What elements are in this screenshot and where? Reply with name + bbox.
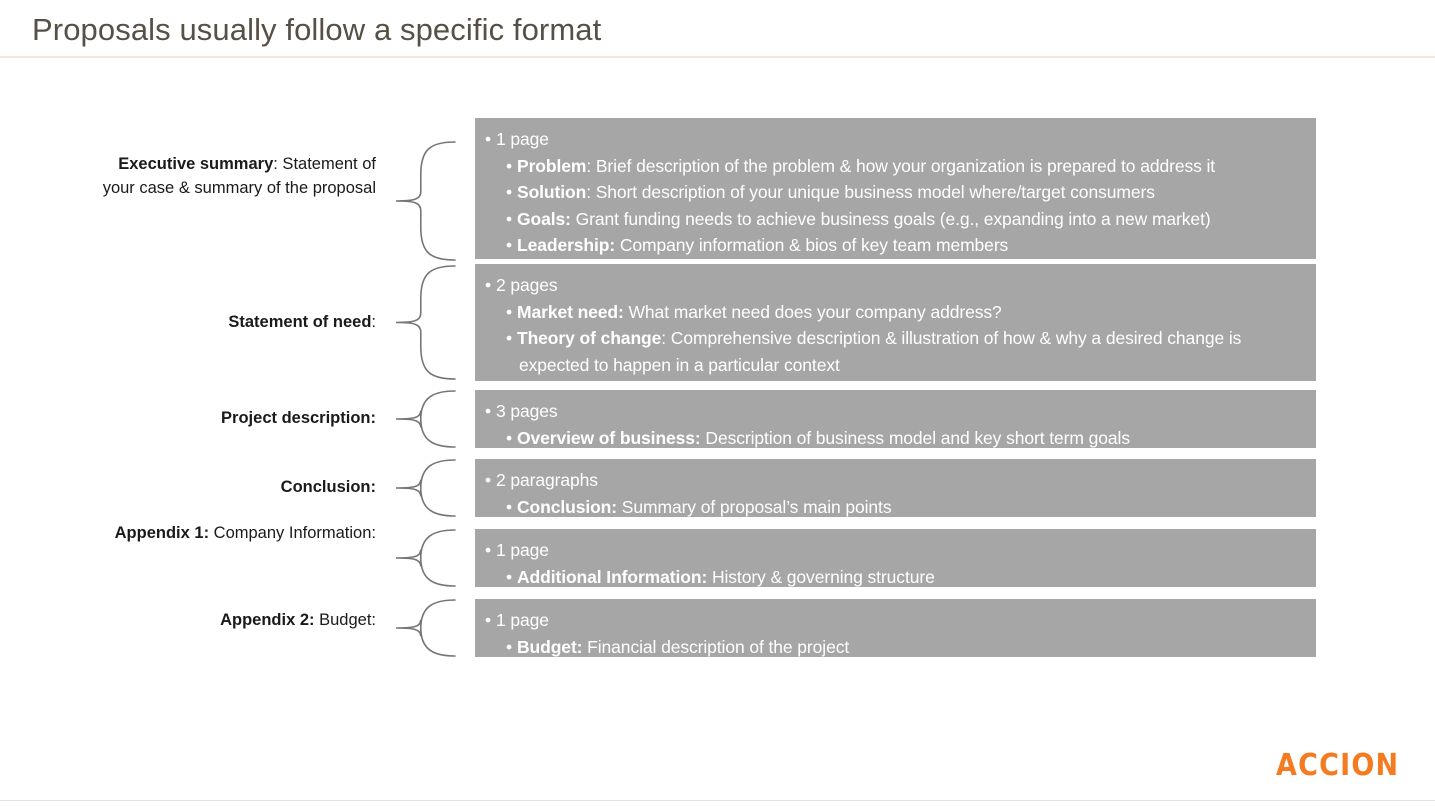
box-line-text: Description of business model and key sh… — [701, 428, 1130, 448]
section-label-detail: : — [371, 313, 376, 331]
curly-brace-icon — [396, 460, 455, 516]
section-label-name: Appendix 1: — [115, 524, 209, 542]
box-line-emphasis: Overview of business: — [517, 428, 701, 448]
box-line-primary: • 2 paragraphs — [485, 467, 1304, 494]
box-line-text: 1 page — [496, 610, 549, 630]
box-line-secondary: • Market need: What market need does you… — [485, 299, 1304, 326]
box-line-secondary: • Theory of change: Comprehensive descri… — [485, 325, 1304, 378]
section-label: Appendix 2: Budget: — [86, 609, 376, 633]
box-line-secondary: • Leadership: Company information & bios… — [485, 232, 1304, 259]
bullet-icon: • — [506, 235, 517, 255]
box-line-emphasis: Theory of change — [517, 328, 661, 348]
box-line-emphasis: Leadership: — [517, 235, 615, 255]
bullet-icon: • — [485, 540, 496, 560]
box-line-emphasis: Market need: — [517, 302, 624, 322]
page-title: Proposals usually follow a specific form… — [32, 11, 601, 49]
content-box: • 1 page• Budget: Financial description … — [475, 599, 1316, 657]
accion-logo: ACCION — [1276, 749, 1399, 783]
box-line-text: 2 paragraphs — [496, 470, 598, 490]
bullet-icon: • — [506, 328, 517, 348]
box-line-text: : Brief description of the problem & how… — [586, 156, 1215, 176]
bullet-icon: • — [485, 470, 496, 490]
box-line-text: History & governing structure — [707, 567, 935, 587]
box-line-secondary: • Additional Information: History & gove… — [485, 564, 1304, 591]
box-line-text: What market need does your company addre… — [624, 302, 1002, 322]
bullet-icon: • — [485, 610, 496, 630]
box-line-primary: • 3 pages — [485, 398, 1304, 425]
section-label: Statement of need: — [86, 311, 376, 335]
box-line-text: 3 pages — [496, 401, 558, 421]
section-label-detail: Company Information: — [209, 524, 376, 542]
box-line-text: 1 page — [496, 540, 549, 560]
box-line-text: 1 page — [496, 129, 549, 149]
content-box: • 1 page• Problem: Brief description of … — [475, 118, 1316, 259]
box-line-primary: • 1 page — [485, 607, 1304, 634]
section-label-name: Executive summary — [118, 155, 273, 173]
bullet-icon: • — [506, 156, 517, 176]
curly-brace-icon — [396, 530, 455, 586]
box-line-secondary: • Goals: Grant funding needs to achieve … — [485, 206, 1304, 233]
curly-brace-icon — [396, 142, 455, 260]
box-line-emphasis: Goals: — [517, 209, 571, 229]
box-line-text: 2 pages — [496, 275, 558, 295]
bullet-icon: • — [506, 302, 517, 322]
box-line-emphasis: Budget: — [517, 637, 582, 657]
box-line-primary: • 1 page — [485, 537, 1304, 564]
bullet-icon: • — [506, 637, 517, 657]
section-label: Conclusion: — [86, 476, 376, 500]
box-line-primary: • 1 page — [485, 126, 1304, 153]
box-line-secondary: • Solution: Short description of your un… — [485, 179, 1304, 206]
section-label: Project description: — [86, 407, 376, 431]
bullet-icon: • — [506, 428, 517, 448]
bullet-icon: • — [485, 401, 496, 421]
title-divider — [0, 56, 1435, 58]
section-label-name: Appendix 2: — [220, 611, 314, 629]
box-line-text: Company information & bios of key team m… — [615, 235, 1008, 255]
box-line-text: Grant funding needs to achieve business … — [571, 209, 1211, 229]
bullet-icon: • — [506, 209, 517, 229]
box-line-secondary: • Overview of business: Description of b… — [485, 425, 1304, 452]
content-box: • 2 pages• Market need: What market need… — [475, 264, 1316, 381]
section-label-name: Statement of need — [228, 313, 371, 331]
box-line-text: Summary of proposal’s main points — [617, 497, 891, 517]
box-line-text: : Short description of your unique busin… — [586, 182, 1155, 202]
box-line-emphasis: Additional Information: — [517, 567, 707, 587]
bullet-icon: • — [506, 497, 517, 517]
section-label-name: Project description: — [221, 409, 376, 427]
box-line-secondary: • Problem: Brief description of the prob… — [485, 153, 1304, 180]
bullet-icon: • — [506, 182, 517, 202]
box-line-emphasis: Conclusion: — [517, 497, 617, 517]
box-line-emphasis: Solution — [517, 182, 586, 202]
bullet-icon: • — [485, 129, 496, 149]
content-box: • 1 page• Additional Information: Histor… — [475, 529, 1316, 587]
section-label-detail: Budget: — [315, 611, 376, 629]
bullet-icon: • — [506, 567, 517, 587]
section-label: Appendix 1: Company Information: — [86, 522, 376, 546]
curly-brace-icon — [396, 600, 455, 656]
slide-canvas: Proposals usually follow a specific form… — [0, 0, 1435, 806]
content-box: • 2 paragraphs• Conclusion: Summary of p… — [475, 459, 1316, 517]
curly-brace-icon — [396, 266, 455, 379]
section-label: Executive summary: Statement of your cas… — [86, 153, 376, 200]
box-line-text: Financial description of the project — [582, 637, 849, 657]
curly-brace-icon — [396, 391, 455, 447]
section-label-name: Conclusion: — [281, 478, 376, 496]
content-box: • 3 pages• Overview of business: Descrip… — [475, 390, 1316, 448]
box-line-primary: • 2 pages — [485, 272, 1304, 299]
box-line-emphasis: Problem — [517, 156, 586, 176]
bullet-icon: • — [485, 275, 496, 295]
box-line-secondary: • Budget: Financial description of the p… — [485, 634, 1304, 661]
box-line-secondary: • Conclusion: Summary of proposal’s main… — [485, 494, 1304, 521]
footer-divider — [0, 800, 1435, 801]
